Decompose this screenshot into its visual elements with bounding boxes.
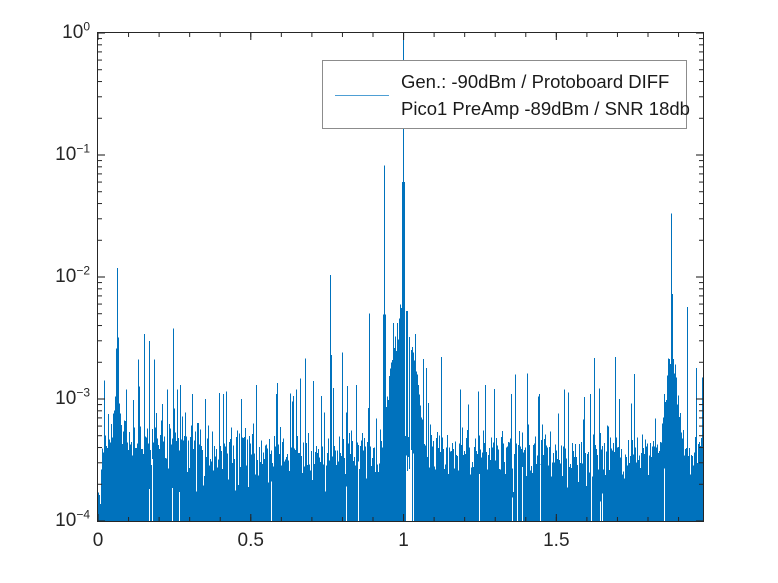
legend-entry-text: Gen.: -90dBm / Protoboard DIFF Pico1 Pre… — [401, 68, 680, 122]
legend-entry-0: Gen.: -90dBm / Protoboard DIFF — [401, 68, 680, 95]
legend-entry-1: Pico1 PreAmp -89dBm / SNR 18db — [401, 95, 680, 122]
figure-canvas: 10−410−310−210−1100 00.511.5 Gen.: -90dB… — [0, 0, 778, 583]
legend-line-sample-icon — [335, 95, 389, 96]
x-tick-label-1: 0.5 — [238, 530, 264, 552]
legend-box[interactable]: Gen.: -90dBm / Protoboard DIFF Pico1 Pre… — [322, 60, 687, 129]
x-tick-label-2: 1 — [398, 530, 409, 552]
x-tick-label-3: 1.5 — [543, 530, 569, 552]
x-tick-label-0: 0 — [93, 530, 104, 552]
